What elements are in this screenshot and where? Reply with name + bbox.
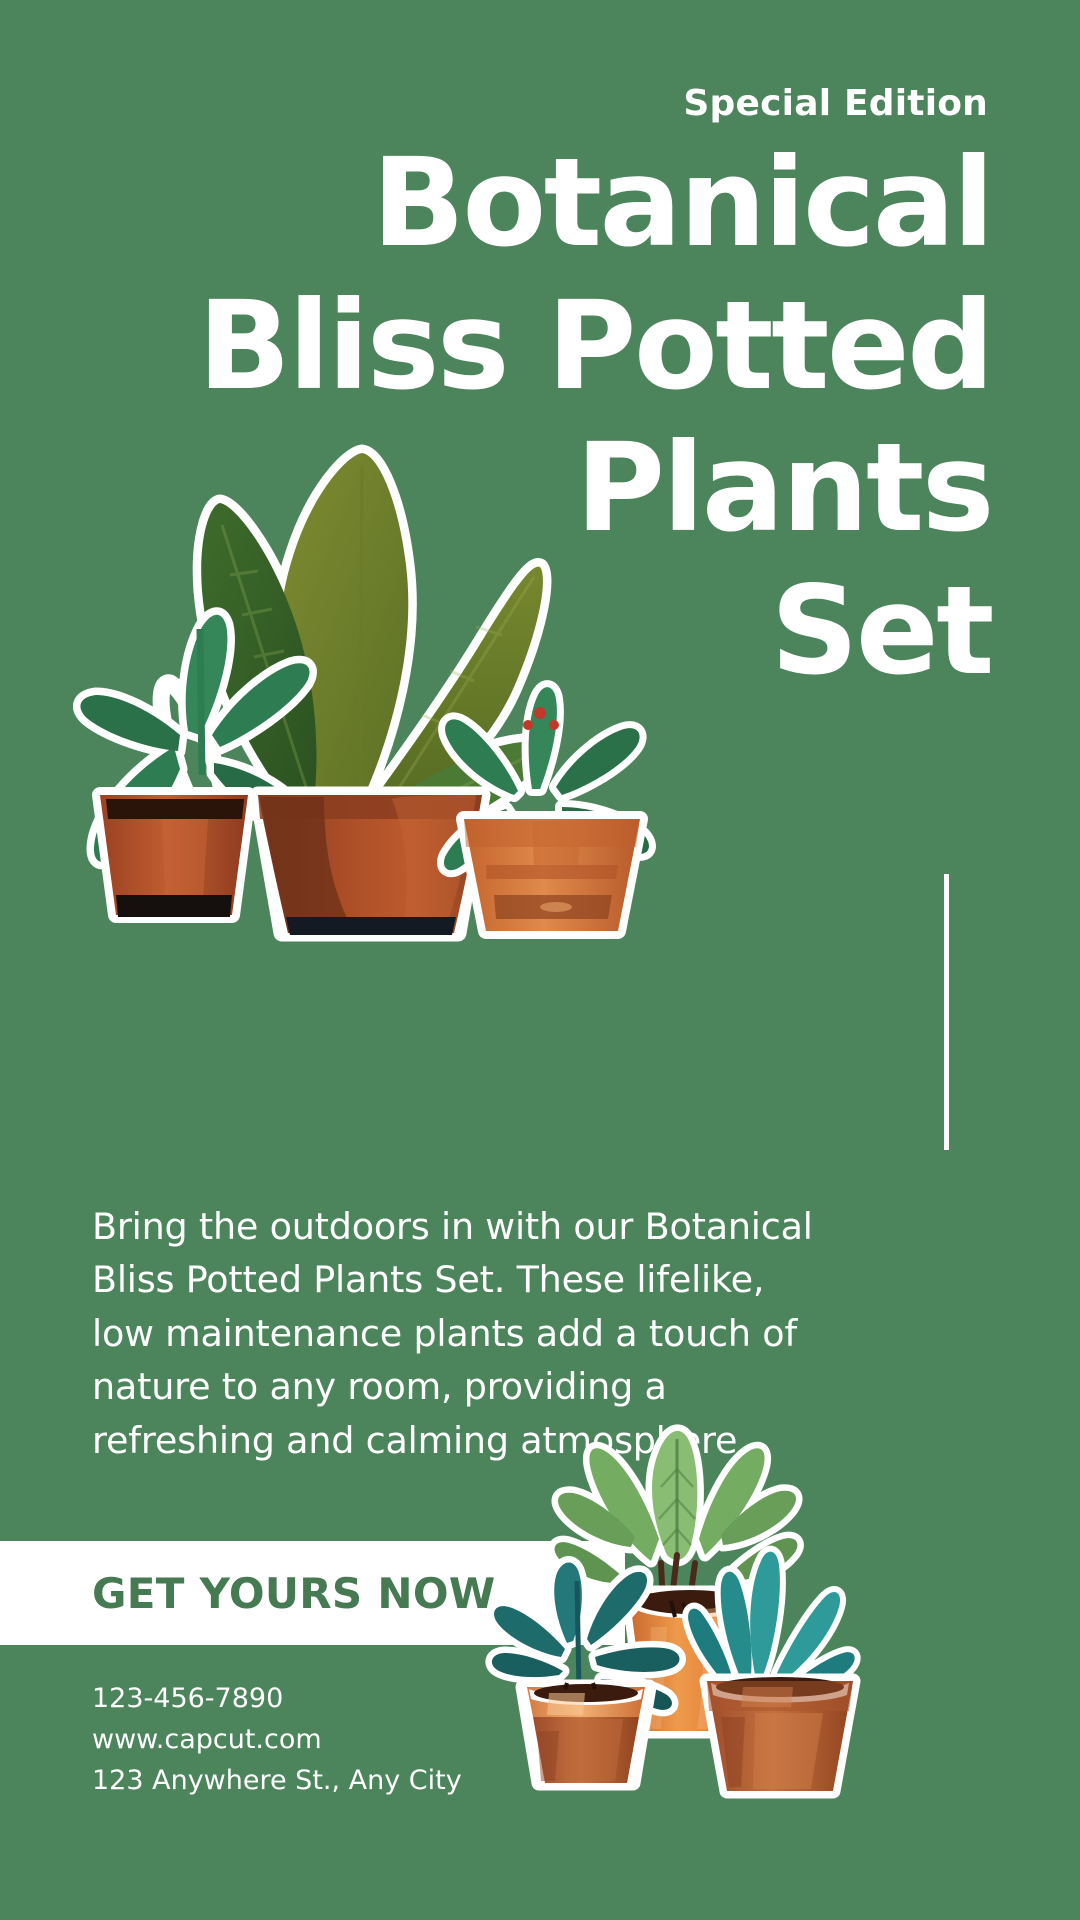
vertical-divider-line [944, 874, 949, 1150]
contact-phone[interactable]: 123-456-7890 [92, 1678, 462, 1719]
bottom-plants-illustration [455, 1395, 885, 1815]
eyebrow-label: Special Edition [683, 86, 988, 122]
main-plants-illustration [62, 395, 662, 955]
contact-details: 123-456-7890 www.capcut.com 123 Anywhere… [92, 1678, 462, 1801]
contact-address: 123 Anywhere St., Any City [92, 1760, 462, 1801]
headline-line-1: Botanical [52, 132, 992, 275]
cta-label: GET YOURS NOW [92, 1569, 495, 1618]
poster-canvas: Special Edition [0, 0, 1080, 1920]
contact-website[interactable]: www.capcut.com [92, 1719, 462, 1760]
